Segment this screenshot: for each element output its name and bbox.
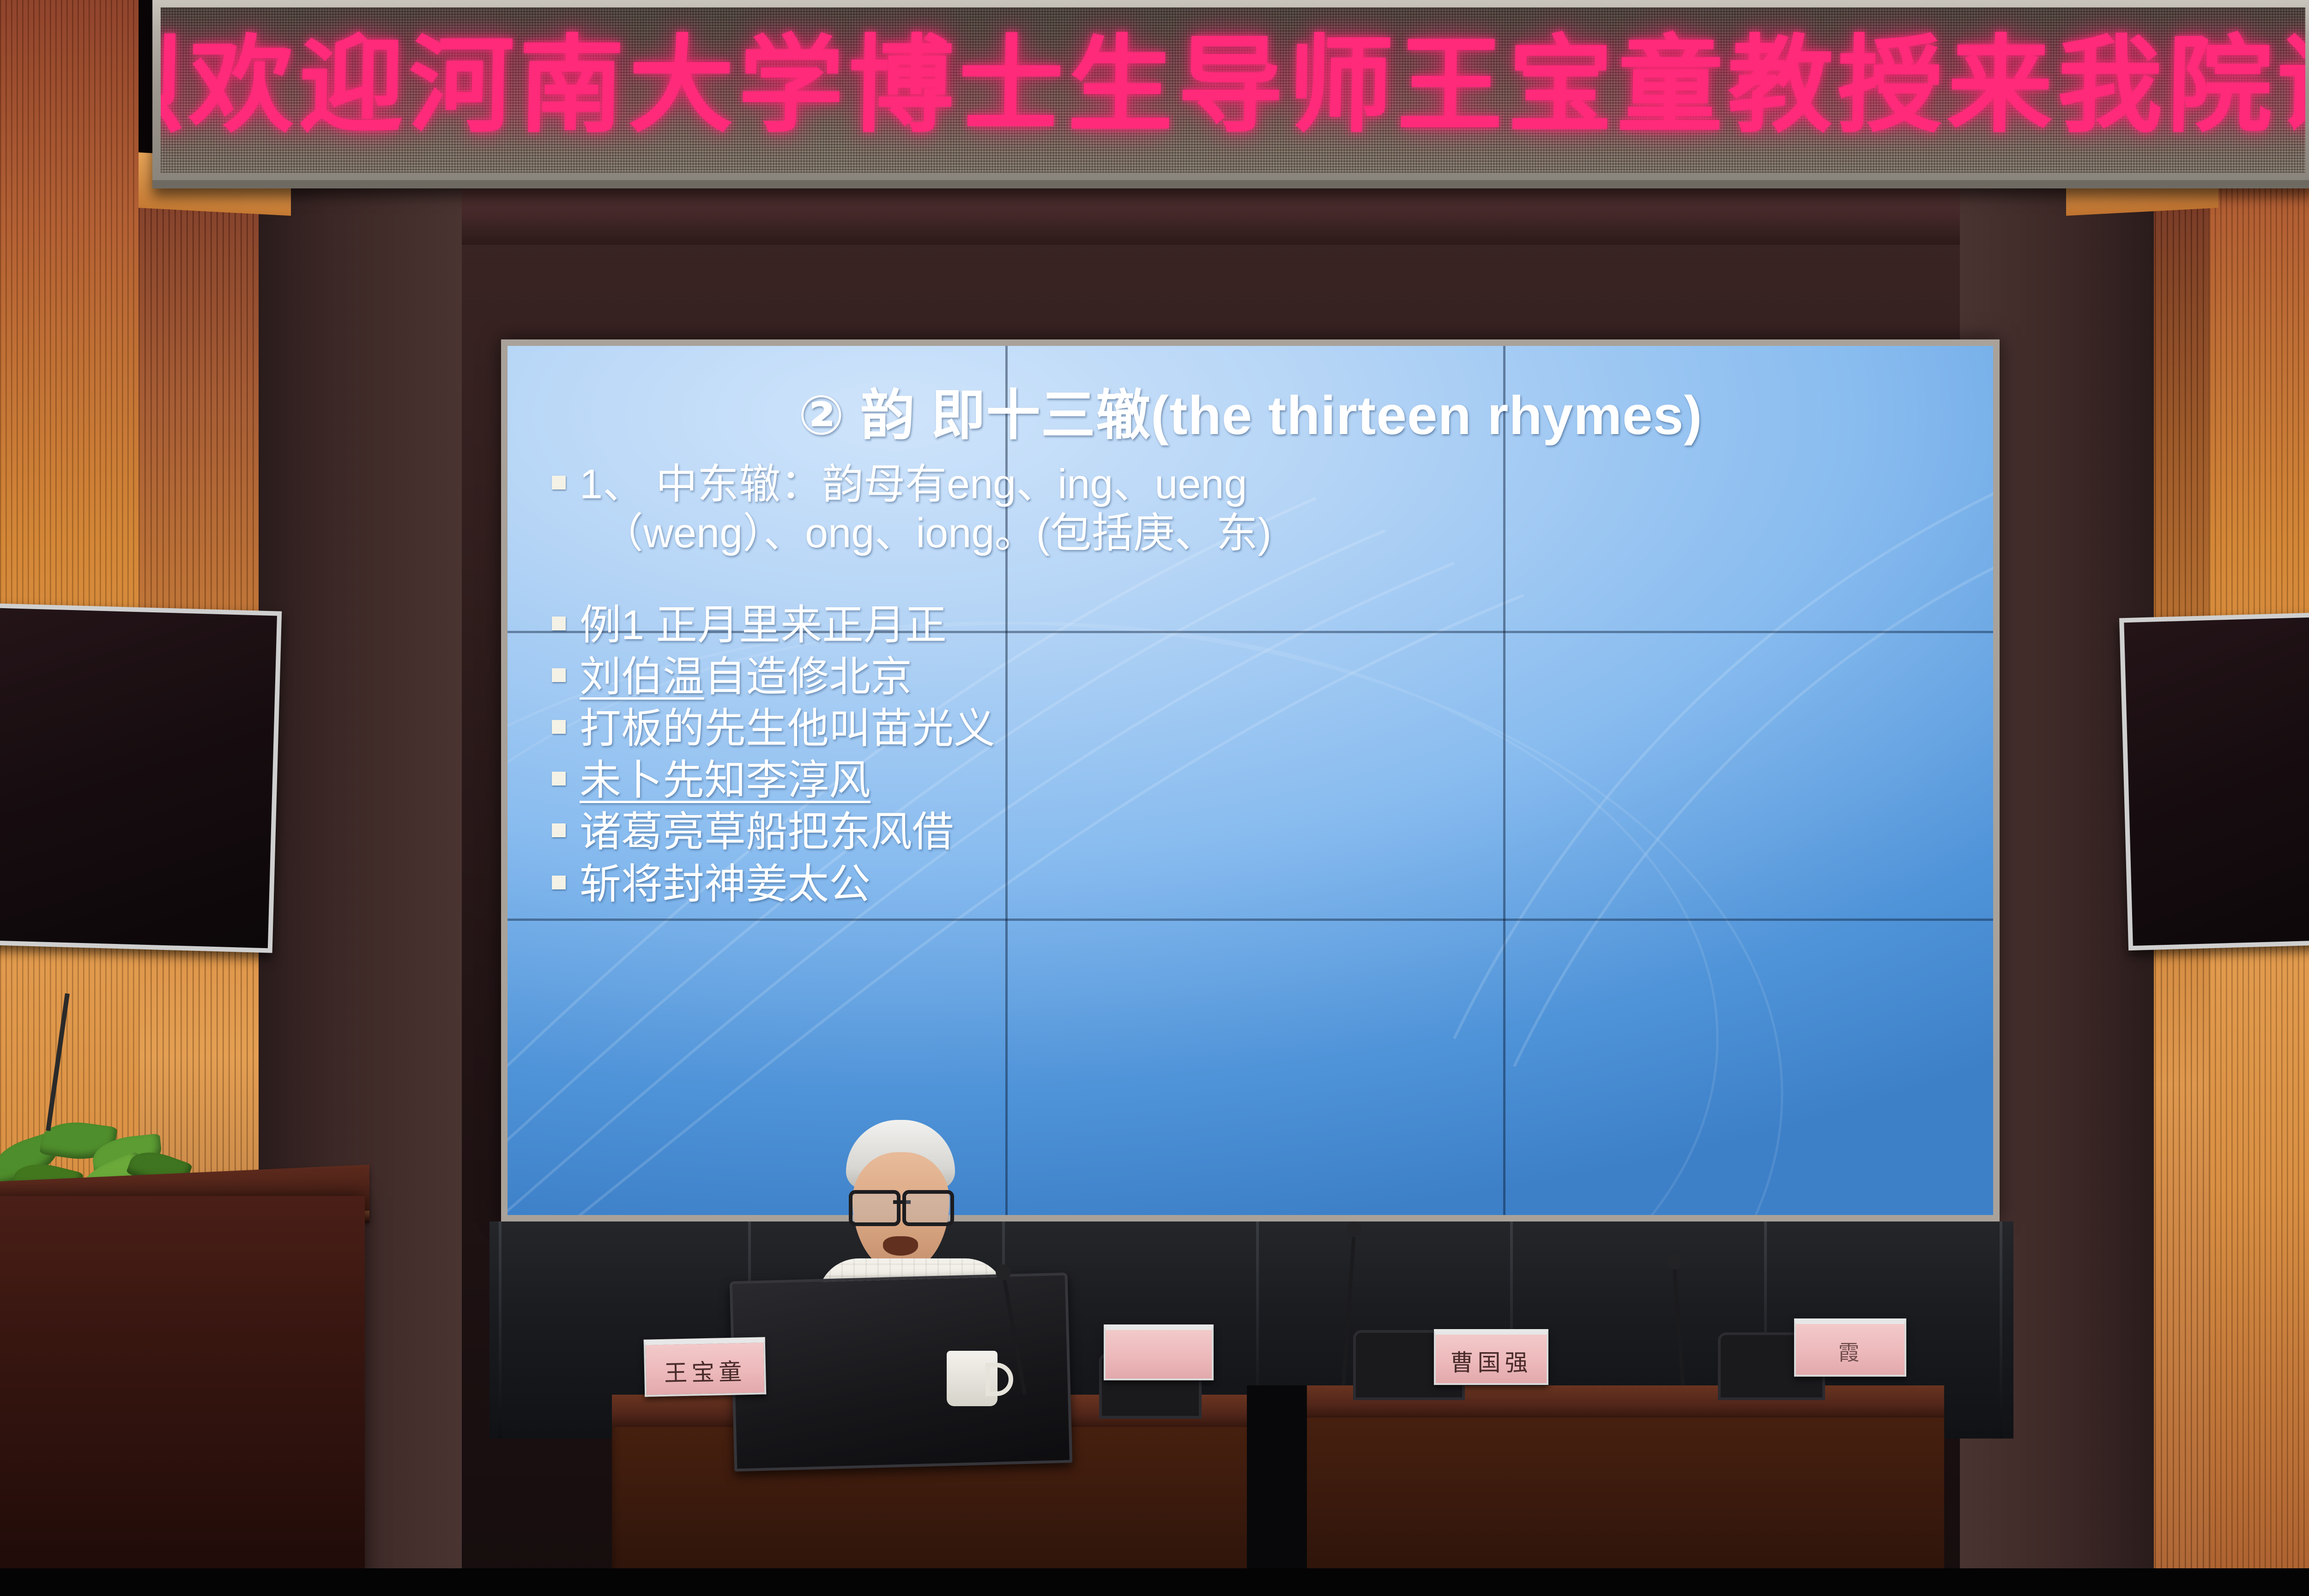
desk-gap xyxy=(1247,1385,1316,1596)
bullet-square-icon xyxy=(552,720,566,734)
led-video-wall: ② 韵 即十三辙(the thirteen rhymes) 1、 中东辙：韵母有… xyxy=(501,339,2000,1221)
slide-content: ② 韵 即十三辙(the thirteen rhymes) 1、 中东辙：韵母有… xyxy=(508,346,1993,1215)
panel-seam xyxy=(2000,1221,2002,1439)
bullet-text: 刘伯温自造修北京 xyxy=(580,653,1961,701)
led-banner-screen: 热烈欢迎河南大学博士生导师王宝童教授来我院讲学 xyxy=(161,7,2305,173)
monitor-screen xyxy=(0,608,277,948)
bullet-line-1: 1、 中东辙：韵母有eng、ing、ueng xyxy=(580,461,1247,508)
bullet-text: 诸葛亮草船把东风借 xyxy=(580,808,1961,857)
nameplate-text: 王宝童 xyxy=(664,1353,746,1388)
slide-bullet: 例1 正月里来正月正 xyxy=(540,601,1961,650)
nameplate-text: 曹国强 xyxy=(1451,1344,1532,1378)
bullet-text: 未卜先知李淳风 xyxy=(580,756,1961,805)
nameplate: 霞 xyxy=(1794,1318,1906,1377)
slide-bullet: 1、 中东辙：韵母有eng、ing、ueng （weng）、ong、iong。(… xyxy=(540,460,1961,558)
bullet-square-icon xyxy=(552,476,566,490)
bullet-square-icon xyxy=(552,823,566,837)
bullet-line-2: （weng）、ong、iong。(包括庚、东) xyxy=(580,509,1961,558)
slide-bullet: 诸葛亮草船把东风借 xyxy=(540,808,1961,857)
wall-monitor-right xyxy=(2119,611,2309,950)
bullet-square-icon xyxy=(552,617,566,630)
slide-title: ② 韵 即十三辙(the thirteen rhymes) xyxy=(540,384,1961,448)
floor-shadow xyxy=(0,1568,2309,1596)
speaker-mouth xyxy=(883,1236,918,1256)
nameplate: 曹国强 xyxy=(1434,1329,1548,1385)
wall-monitor-left xyxy=(0,603,282,953)
nameplate xyxy=(1104,1324,1214,1380)
dais-desk-right xyxy=(1307,1385,1944,1596)
podium xyxy=(0,1196,365,1596)
glasses-icon xyxy=(849,1190,954,1219)
tea-cup xyxy=(947,1351,997,1406)
bullet-underlined-name: 刘伯温 xyxy=(580,654,704,700)
bullet-square-icon xyxy=(552,668,566,682)
nameplate: 王宝童 xyxy=(644,1337,767,1396)
nameplate-text: 霞 xyxy=(1838,1336,1862,1366)
led-banner-text: 热烈欢迎河南大学博士生导师王宝童教授来我院讲学 xyxy=(161,33,2305,138)
glasses-lens-left xyxy=(849,1190,901,1226)
bullet-square-icon xyxy=(552,876,566,889)
bullet-text: 1、 中东辙：韵母有eng、ing、ueng （weng）、ong、iong。(… xyxy=(580,460,1961,558)
bullet-text: 例1 正月里来正月正 xyxy=(580,601,1961,650)
bullet-text: 打板的先生他叫苗光义 xyxy=(580,704,1961,753)
monitor-screen xyxy=(2124,615,2309,946)
slide-bullet: 刘伯温自造修北京 xyxy=(540,653,1961,701)
bullet-rest: 自造修北京 xyxy=(704,654,912,700)
presentation-slide: ② 韵 即十三辙(the thirteen rhymes) 1、 中东辙：韵母有… xyxy=(508,346,1993,1215)
led-banner: 热烈欢迎河南大学博士生导师王宝童教授来我院讲学 xyxy=(152,0,2309,188)
slide-bullet: 未卜先知李淳风 xyxy=(540,756,1961,805)
slide-bullet-spacer xyxy=(540,561,1961,601)
bullet-text: 斩将封神姜太公 xyxy=(580,860,1961,909)
bullet-square-icon xyxy=(552,772,566,786)
glasses-lens-right xyxy=(902,1190,954,1226)
slide-bullet-list: 1、 中东辙：韵母有eng、ing、ueng （weng）、ong、iong。(… xyxy=(540,460,1961,909)
slide-bullet: 斩将封神姜太公 xyxy=(540,860,1961,909)
panel-seam xyxy=(499,1221,502,1439)
lecture-hall-scene: 热烈欢迎河南大学博士生导师王宝童教授来我院讲学 xyxy=(0,0,2309,1596)
slide-bullet: 打板的先生他叫苗光义 xyxy=(540,704,1961,753)
